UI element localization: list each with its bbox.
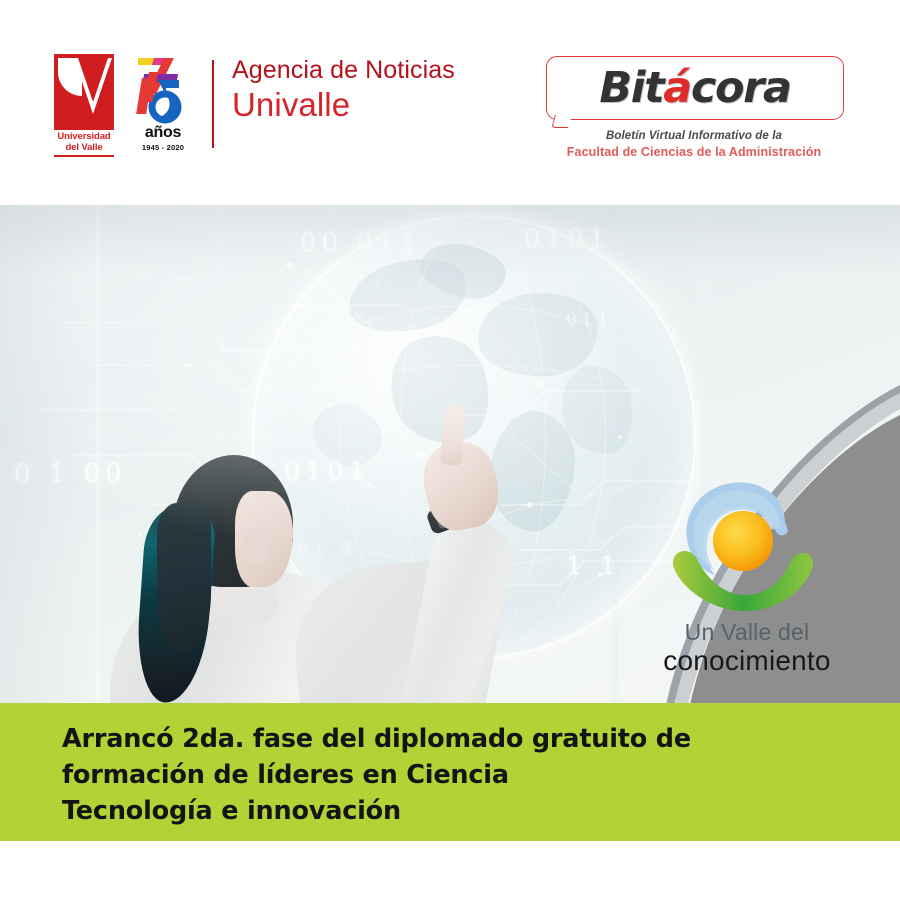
headline-line: formación de líderes en Ciencia	[62, 757, 860, 793]
headline-line: Arrancó 2da. fase del diplomado gratuito…	[62, 721, 860, 757]
bitacora-frame: Bitácora	[546, 56, 844, 120]
header-divider	[212, 60, 214, 148]
headline-text: Arrancó 2da. fase del diplomado gratuito…	[62, 721, 860, 829]
univalle-shield-body	[54, 54, 114, 130]
bitacora-word-part1: Bit	[599, 63, 663, 113]
un-valle-del-conocimiento-logo: Un Valle del conocimiento	[627, 477, 867, 685]
header-brand-group: Universidad del Valle año	[48, 52, 455, 160]
univalle-shield-icon: Universidad del Valle	[48, 52, 120, 160]
headline-banner: Arrancó 2da. fase del diplomado gratuito…	[0, 703, 900, 841]
page-header: Universidad del Valle año	[0, 0, 900, 178]
headline-line: Tecnología e innovación	[62, 793, 860, 829]
anniversary-years: 1945 - 2020	[130, 143, 196, 152]
bitacora-wordmark: Bitácora	[599, 63, 790, 113]
valle-logo-line2: conocimiento	[627, 645, 867, 677]
bitacora-word-part2: cora	[691, 63, 791, 113]
hero-image: 00 01101010110 1 0001010111 10101 0	[0, 205, 900, 705]
anniversary-label: años	[130, 124, 196, 142]
bitacora-subtitle-2: Facultad de Ciencias de la Administració…	[546, 145, 842, 159]
75-anniversary-icon: años 1945 - 2020	[130, 52, 196, 160]
footer-spacer	[0, 841, 900, 900]
univalle-logo-rule	[54, 155, 114, 157]
bitacora-word-accent: á	[663, 63, 691, 113]
newsletter-page: Universidad del Valle año	[0, 0, 900, 900]
valle-logo-line1: Un Valle del	[627, 619, 867, 646]
un-valle-del-conocimiento-icon	[657, 477, 827, 617]
agency-subtitle: Univalle	[232, 86, 455, 124]
header-titles: Agencia de Noticias Univalle	[232, 54, 455, 124]
univalle-logo-text: Universidad del Valle	[48, 132, 120, 153]
bitacora-subtitle-1: Boletín Virtual Informativo de la	[546, 130, 842, 142]
agency-title: Agencia de Noticias	[232, 54, 455, 86]
bitacora-speech-tail	[551, 115, 572, 128]
bitacora-masthead: Bitácora Boletín Virtual Informativo de …	[546, 56, 846, 159]
75-anniversary-graphic	[130, 52, 196, 126]
